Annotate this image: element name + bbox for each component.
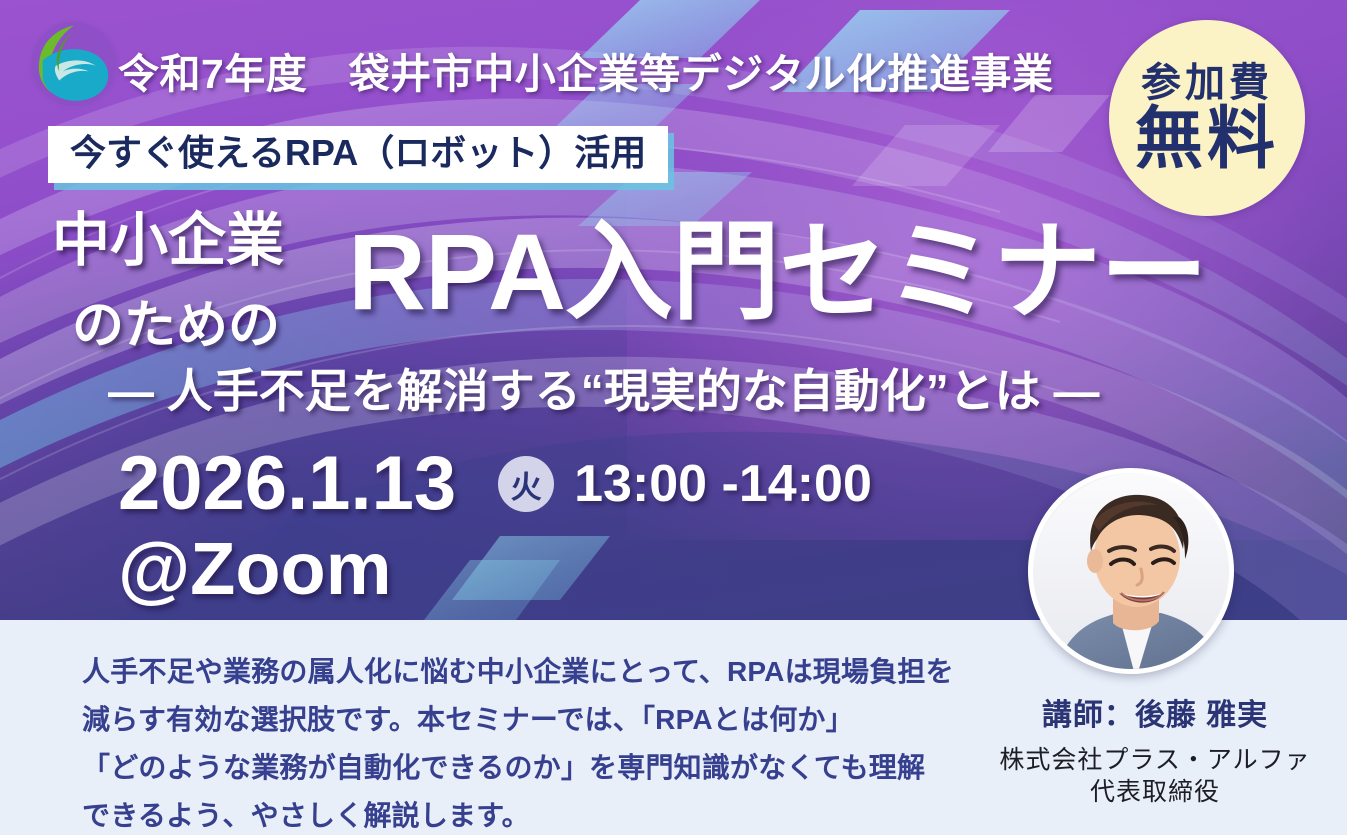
seminar-poster: 令和7年度 袋井市中小企業等デジタル化推進事業 今すぐ使えるRPA（ロボット）活… bbox=[0, 0, 1347, 835]
title-subtitle: — 人手不足を解消する“現実的な自動化”とは — bbox=[108, 368, 1100, 414]
schedule-line: 2026.1.13 火 13:00 -14:00 bbox=[118, 446, 872, 522]
speaker-name: 講師：後藤 雅実 bbox=[960, 690, 1347, 734]
program-kicker: 令和7年度 袋井市中小企業等デジタル化推進事業 bbox=[118, 40, 1053, 100]
title-prefix-line2: のための bbox=[72, 300, 280, 352]
badge-fee-label: 参加費 bbox=[1141, 63, 1273, 103]
fukuroi-city-logo-icon bbox=[28, 18, 120, 110]
speaker-portrait-photo bbox=[1028, 468, 1234, 674]
main-title: RPA入門セミナー bbox=[348, 218, 1207, 326]
catchphrase-banner: 今すぐ使えるRPA（ロボット）活用 bbox=[48, 126, 668, 183]
badge-free-label: 無料 bbox=[1135, 105, 1279, 173]
speaker-info: 講師：後藤 雅実 株式会社プラス・アルファ 代表取締役 bbox=[960, 690, 1347, 808]
event-time: 13:00 -14:00 bbox=[574, 458, 872, 510]
lede-paragraph: 人手不足や業務の属人化に悩む中小企業にとって、RPAは現場負担を 減らす有効な選… bbox=[82, 648, 952, 835]
day-of-week-badge: 火 bbox=[498, 456, 554, 512]
event-venue: @Zoom bbox=[118, 532, 392, 606]
speaker-role: 代表取締役 bbox=[960, 776, 1347, 808]
lede-line: 「どのような業務が自動化できるのか」を専門知識がなくても理解 bbox=[82, 744, 952, 792]
lede-line: 減らす有効な選択肢です。本セミナーでは、「RPAとは何か」 bbox=[82, 696, 952, 744]
speaker-company: 株式会社プラス・アルファ bbox=[960, 744, 1347, 776]
free-admission-badge: 参加費 無料 bbox=[1109, 20, 1305, 216]
lede-line: 人手不足や業務の属人化に悩む中小企業にとって、RPAは現場負担を bbox=[82, 648, 952, 696]
event-date: 2026.1.13 bbox=[118, 446, 456, 522]
lede-line: できるよう、やさしく解説します。 bbox=[82, 792, 952, 835]
catchphrase-text: 今すぐ使えるRPA（ロボット）活用 bbox=[70, 133, 646, 173]
title-prefix-line1: 中小企業 bbox=[52, 212, 284, 270]
